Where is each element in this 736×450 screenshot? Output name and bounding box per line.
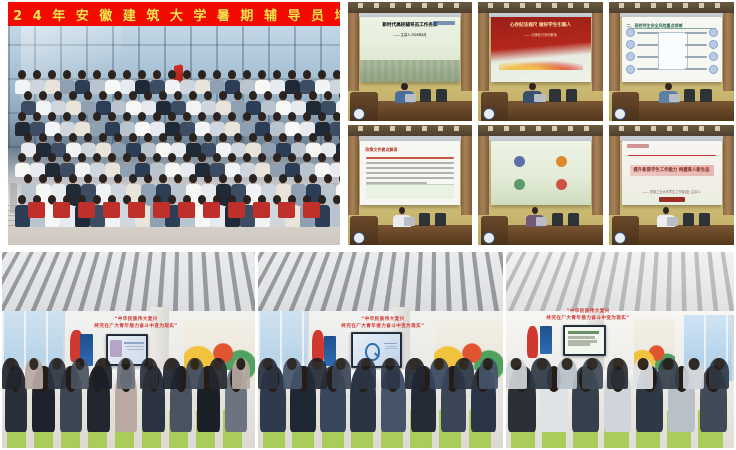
slide-1-subtitle: —— 主讲人 2024年8月 [365, 32, 454, 37]
event-banner: 2 0 2 4 年 安 徽 建 筑 大 学 暑 期 辅 导 员 培 训 [8, 2, 340, 26]
projector-screen-2: 心存纪法规尺 做好学生引路人 —— 纪律处分条例解读 [491, 17, 591, 81]
lecture-photo-6[interactable]: 提升新质学生工作能力 构建育人新生态 —— 安徽工业大学学生工作部(处) 主讲人 [609, 125, 734, 245]
hall-chair [684, 89, 695, 102]
laptop-icon [536, 217, 547, 225]
head-table [378, 225, 472, 245]
slide-2-subtitle: —— 纪律处分条例解读 [496, 32, 586, 37]
laptop-icon [405, 94, 416, 102]
slide-6-title: 提升新质学生工作能力 构建育人新生态 [633, 167, 709, 173]
slide-2-title: 心存纪法规尺 做好学生引路人 [496, 23, 586, 29]
participant-head [587, 358, 598, 371]
wood-panel-left [478, 136, 489, 215]
participant-head [52, 358, 61, 371]
university-emblem-icon [614, 108, 626, 120]
seated-participant [2, 358, 20, 389]
slide-on-display [565, 327, 604, 354]
lecture-photo-5[interactable] [478, 125, 603, 245]
ceiling-lights [619, 126, 724, 131]
seated-participant [557, 358, 578, 389]
participant-head [434, 358, 444, 371]
hall-chair [435, 213, 446, 226]
university-emblem-icon [353, 108, 365, 120]
participant-head [236, 358, 245, 371]
hall-chair [549, 89, 560, 102]
wood-panel-right [592, 136, 603, 215]
campus-rendering-image [360, 60, 459, 82]
red-chair [78, 202, 95, 218]
laptop-icon [534, 94, 545, 102]
circle-icon-orange [556, 156, 567, 167]
hall-chair [420, 89, 431, 102]
projector-screen-6: 提升新质学生工作能力 构建育人新生态 —— 安徽工业大学学生工作部(处) 主讲人 [622, 141, 722, 206]
wood-panel-right [723, 136, 734, 215]
seated-participant [658, 358, 679, 389]
seated-participant [683, 358, 704, 389]
seated-participant [582, 358, 603, 389]
participant-head [167, 358, 176, 371]
slide-6: 提升新质学生工作能力 构建育人新生态 —— 安徽工业大学学生工作部(处) 主讲人 [622, 141, 722, 206]
participant-head [75, 358, 84, 371]
university-emblem-icon [614, 232, 626, 244]
wood-panel-left [609, 136, 620, 215]
wood-panel-left [348, 13, 359, 92]
seated-participant [405, 358, 425, 389]
university-logo-icon [433, 21, 455, 25]
seated-participant [531, 358, 552, 389]
participant-head [511, 358, 522, 371]
podium [350, 92, 377, 121]
slide-6-title-bar: 提升新质学生工作能力 构建育人新生态 [630, 165, 714, 175]
hall-chair [419, 213, 430, 226]
group-photo-people-rows [15, 70, 334, 216]
participant-head [98, 358, 107, 371]
seated-participant [25, 358, 43, 389]
slide-divider [628, 155, 716, 156]
seated-participant [258, 358, 278, 389]
university-emblem-icon [483, 108, 495, 120]
lecture-photo-2[interactable]: 心存纪法规尺 做好学生引路人 —— 纪律处分条例解读 [478, 2, 603, 121]
seated-participant [607, 358, 628, 389]
seated-participant [709, 358, 730, 389]
seated-participant [283, 358, 303, 389]
podium [350, 216, 377, 245]
seated-participant [163, 358, 181, 389]
circle-icon-green [514, 179, 525, 190]
seated-participant [454, 358, 474, 389]
event-banner-text: 2 0 2 4 年 安 徽 建 筑 大 学 暑 期 辅 导 员 培 训 [8, 5, 340, 24]
photo-collage: 2 0 2 4 年 安 徽 建 筑 大 学 暑 期 辅 导 员 培 训 新时代高… [0, 0, 736, 450]
circle-icon-red [556, 179, 567, 190]
red-chair [203, 202, 220, 218]
wood-panel-left [348, 136, 359, 215]
participant-head [410, 358, 420, 371]
ceiling-lights [358, 126, 462, 131]
hall-chair [700, 89, 711, 102]
ceiling-lights [488, 126, 593, 131]
diagram-nodes-right [690, 26, 718, 75]
hall-chair [683, 213, 694, 226]
roll-up-banner [540, 326, 551, 353]
slide-2: 心存纪法规尺 做好学生引路人 —— 纪律处分条例解读 [491, 17, 591, 81]
participant-head [287, 358, 297, 371]
head-table [378, 101, 472, 121]
wall-slogan-1: “中华民族伟大复兴 终究在广大青年接力奋斗中变为现实” [78, 317, 194, 331]
seated-participant [356, 358, 376, 389]
seated-participant [71, 358, 89, 389]
participant-head [336, 358, 346, 371]
participant-head [536, 358, 547, 371]
red-chair-row [28, 202, 320, 218]
head-table [639, 225, 734, 245]
seated-participant [232, 358, 250, 389]
group-photo-person [330, 195, 340, 227]
projector-screen-5 [491, 141, 591, 206]
projector-screen-4: 政策文件要点解读 [360, 141, 459, 206]
head-table [508, 101, 603, 121]
slide-1: 新时代高校辅导员工作务实 —— 主讲人 2024年8月 [360, 17, 459, 81]
seated-participant [307, 358, 327, 389]
seated-participant [430, 358, 450, 389]
participant-head [638, 358, 649, 371]
red-chair [303, 202, 320, 218]
participant-head [459, 358, 469, 371]
participant-head [29, 358, 38, 371]
participant-head [121, 358, 130, 371]
decorative-swoosh [499, 59, 583, 71]
participant-head [213, 358, 222, 371]
slide-4: 政策文件要点解读 [360, 141, 459, 206]
hall-chair [566, 89, 577, 102]
slide-6-subtitle: —— 安徽工业大学学生工作部(处) 主讲人 [630, 189, 714, 194]
diagram-nodes-left [626, 26, 654, 75]
wood-panel-right [723, 13, 734, 92]
participant-head [263, 358, 273, 371]
podium [481, 216, 509, 245]
seminar-room-photo-3[interactable]: “中华民族伟大复兴 终究在广大青年接力奋斗中变为现实” [506, 252, 734, 448]
participant-head [663, 358, 674, 371]
hall-chair [568, 213, 579, 226]
lecture-photo-3[interactable]: 二、高校师生安全风险重点领域 [609, 2, 734, 121]
participant-head [6, 358, 15, 371]
slide-5-icon-grid [499, 150, 583, 197]
wood-panel-left [609, 13, 620, 92]
seated-participant [140, 358, 158, 389]
participant-head [612, 358, 623, 371]
portrait-thumbnail [110, 340, 122, 356]
circle-icon-blue [514, 156, 525, 167]
display-screen-3[interactable] [563, 325, 606, 356]
seminar-room-photo-2[interactable]: “中华民族伟大复兴 终究在广大青年接力奋斗中变为现实” [258, 252, 503, 448]
group-photo-scene [8, 2, 340, 245]
hall-chair [552, 213, 563, 226]
participant-head [562, 358, 573, 371]
seated-participant [186, 358, 204, 389]
red-chair [103, 202, 120, 218]
slide-5 [491, 141, 591, 206]
red-chair [278, 202, 295, 218]
university-emblem-icon [353, 232, 365, 244]
podium [612, 216, 640, 245]
laptop-icon [404, 217, 415, 225]
group-photo-panel[interactable]: 2 0 2 4 年 安 徽 建 筑 大 学 暑 期 辅 导 员 培 训 [8, 2, 340, 245]
seated-participant [332, 358, 352, 389]
university-emblem-icon [483, 232, 495, 244]
red-chair [128, 202, 145, 218]
participant-head [190, 358, 199, 371]
participant-head [483, 358, 493, 371]
wood-panel-left [478, 13, 489, 92]
wood-panel-right [461, 13, 472, 92]
podium [481, 92, 509, 121]
participant-head [312, 358, 322, 371]
slide-4-footnote [366, 184, 453, 199]
ceiling-lights [358, 3, 462, 8]
participant-head [144, 358, 153, 371]
lecture-photo-4[interactable]: 政策文件要点解读 [348, 125, 472, 245]
laptop-icon [669, 94, 680, 102]
head-table [508, 225, 603, 245]
diagram-center-box [658, 32, 688, 70]
wood-panel-right [461, 136, 472, 215]
podium [612, 92, 640, 121]
seminar-room-photo-1[interactable]: “中华民族伟大复兴 终究在广大青年接力奋斗中变为现实” [2, 252, 255, 448]
laptop-icon [667, 217, 678, 225]
red-chair [178, 202, 195, 218]
seated-participant [48, 358, 66, 389]
seated-participant [381, 358, 401, 389]
seated-participant [506, 358, 527, 389]
hall-chair [436, 89, 447, 102]
projector-screen-1: 新时代高校辅导员工作务实 —— 主讲人 2024年8月 [360, 17, 459, 81]
seated-participant [94, 358, 112, 389]
wall-slogan-3: “中华民族伟大复兴 终究在广大青年接力奋斗中变为现实” [542, 309, 633, 323]
red-silhouette-decal [527, 326, 538, 357]
seated-participant [479, 358, 499, 389]
ceiling-lights [619, 3, 724, 8]
university-logo-icon [627, 144, 649, 149]
slide-3: 二、高校师生安全风险重点领域 [622, 17, 722, 81]
red-chair [28, 202, 45, 218]
seated-participant [117, 358, 135, 389]
red-chair [253, 202, 270, 218]
wall-slogan-2: “中华民族伟大复兴 终究在广大青年接力奋斗中变为现实” [327, 317, 440, 331]
seated-participant [633, 358, 654, 389]
projector-screen-3: 二、高校师生安全风险重点领域 [622, 17, 722, 81]
red-chair [153, 202, 170, 218]
ceiling-lights [488, 3, 593, 8]
red-chair [53, 202, 70, 218]
red-chair [228, 202, 245, 218]
participant-head [385, 358, 395, 371]
participant-head [714, 358, 725, 371]
hall-chair [699, 213, 710, 226]
seated-participant [209, 358, 227, 389]
wood-panel-right [592, 13, 603, 92]
participant-head [688, 358, 699, 371]
slide-4-title: 政策文件要点解读 [365, 147, 454, 152]
participant-head [361, 358, 371, 371]
lecture-photo-1[interactable]: 新时代高校辅导员工作务实 —— 主讲人 2024年8月 [348, 2, 472, 121]
school-logo-icon [659, 197, 685, 202]
head-table [639, 101, 734, 121]
